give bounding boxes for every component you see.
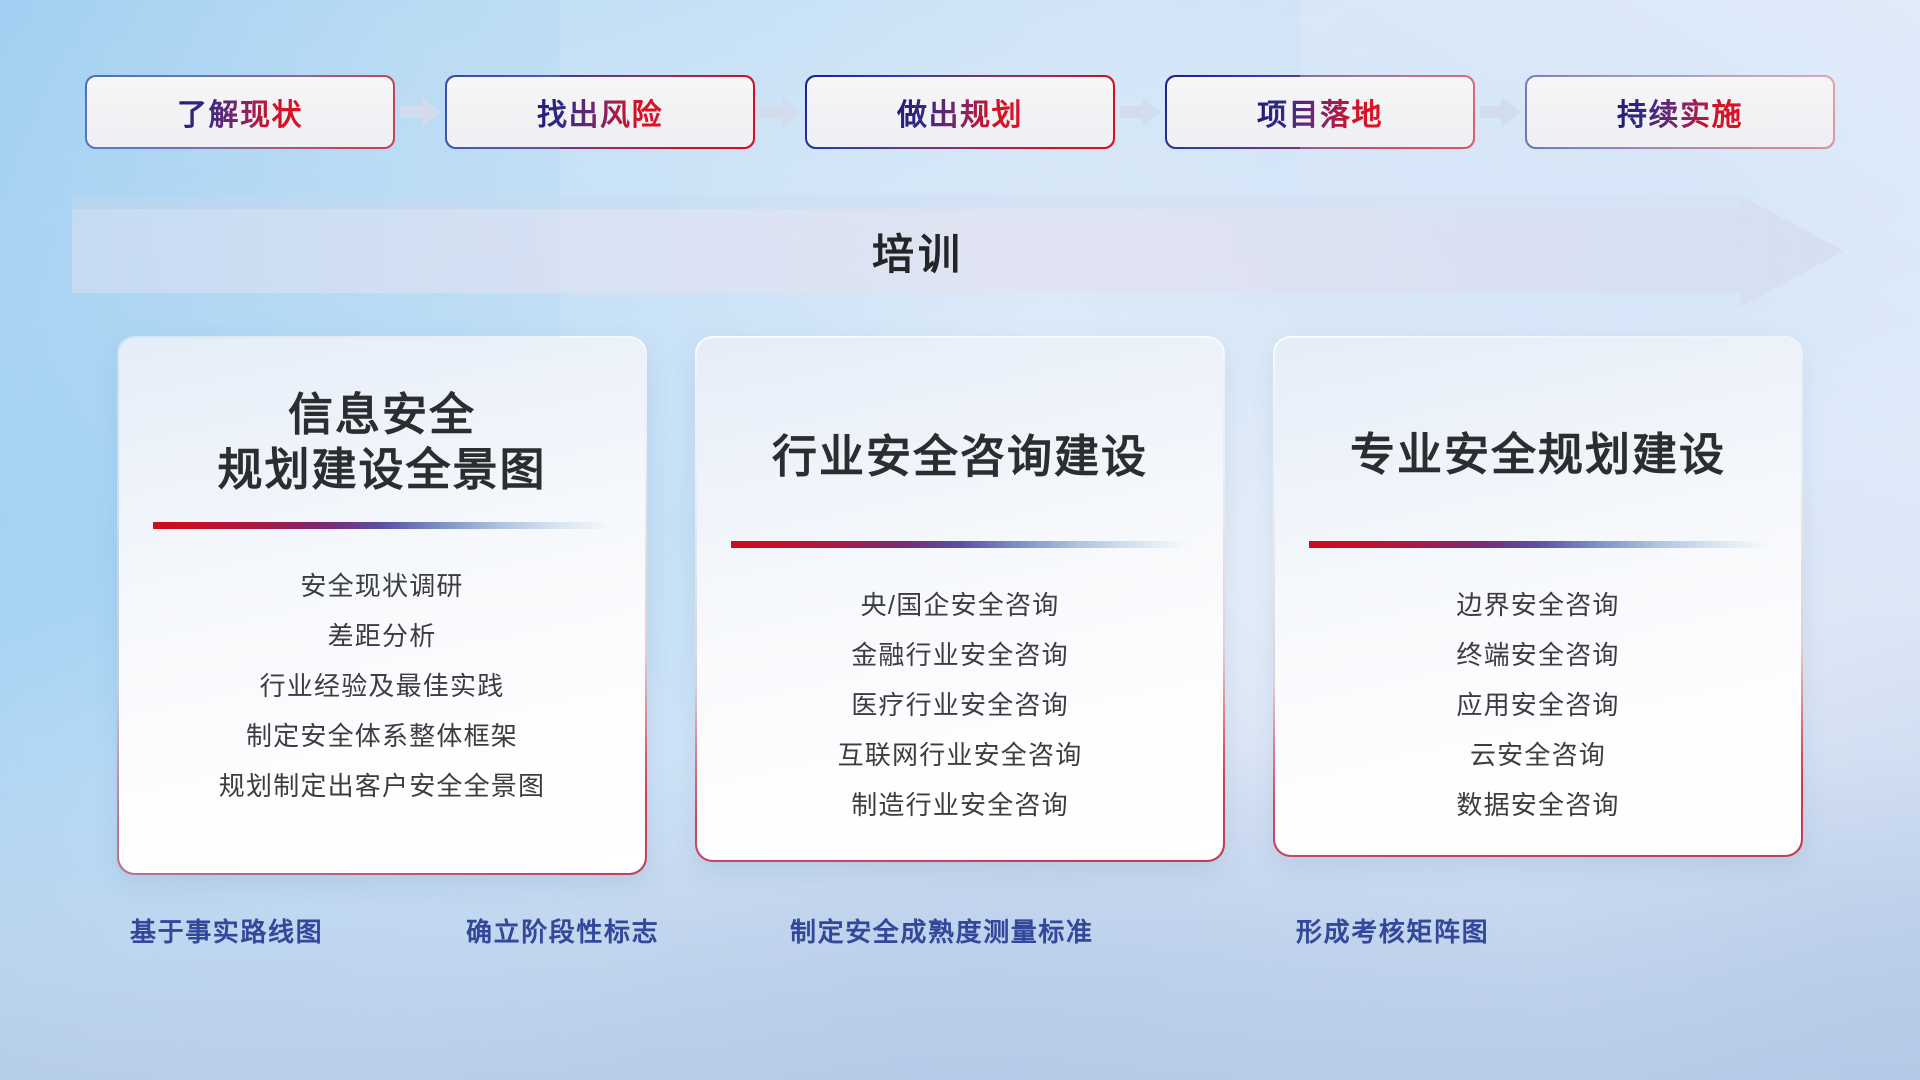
training-banner: 培训 xyxy=(72,195,1844,307)
step-label: 了解现状 xyxy=(177,90,303,134)
list-item: 制造行业安全咨询 xyxy=(851,780,1069,830)
list-item: 应用安全咨询 xyxy=(1456,680,1619,730)
gradient-divider-icon xyxy=(153,522,611,529)
step-label: 找出风险 xyxy=(537,90,663,134)
caption-milestones: 确立阶段性标志 xyxy=(466,912,659,949)
card-item-list: 边界安全咨询 终端安全咨询 应用安全咨询 云安全咨询 数据安全咨询 xyxy=(1305,580,1771,830)
step-chip-2[interactable]: 做出规划 xyxy=(807,77,1113,147)
card-title: 专业安全规划建设 xyxy=(1350,428,1726,483)
list-item: 安全现状调研 xyxy=(300,561,463,611)
arrow-right-icon xyxy=(1473,77,1527,147)
card-title: 行业安全咨询建设 xyxy=(772,430,1148,485)
list-item: 金融行业安全咨询 xyxy=(851,630,1069,680)
arrow-right-icon xyxy=(393,77,447,147)
gradient-divider-icon xyxy=(731,541,1189,548)
step-chip-3[interactable]: 项目落地 xyxy=(1167,77,1473,147)
card-professional-security-planning[interactable]: 专业安全规划建设 边界安全咨询 终端安全咨询 应用安全咨询 云安全咨询 数据安全… xyxy=(1275,338,1801,855)
caption-roadmap: 基于事实路线图 xyxy=(130,912,323,949)
caption-assessment-matrix: 形成考核矩阵图 xyxy=(1296,912,1489,949)
list-item: 医疗行业安全咨询 xyxy=(851,680,1069,730)
step-label: 项目落地 xyxy=(1257,90,1383,134)
capability-cards: 信息安全 规划建设全景图 安全现状调研 差距分析 行业经验及最佳实践 制定安全体… xyxy=(0,338,1920,873)
list-item: 行业经验及最佳实践 xyxy=(260,661,505,711)
card-item-list: 央/国企安全咨询 金融行业安全咨询 医疗行业安全咨询 互联网行业安全咨询 制造行… xyxy=(727,580,1193,830)
list-item: 数据安全咨询 xyxy=(1456,780,1619,830)
caption-maturity-standard: 制定安全成熟度测量标准 xyxy=(790,912,1094,949)
list-item: 云安全咨询 xyxy=(1470,730,1606,780)
process-steps-row: 了解现状 找出风险 做出规划 项目落地 持续实施 xyxy=(0,72,1920,152)
list-item: 差距分析 xyxy=(328,611,437,661)
step-label: 做出规划 xyxy=(897,90,1023,134)
outcome-captions: 基于事实路线图 确立阶段性标志 制定安全成熟度测量标准 形成考核矩阵图 xyxy=(0,912,1920,956)
list-item: 终端安全咨询 xyxy=(1456,630,1619,680)
card-title: 信息安全 规划建设全景图 xyxy=(217,388,546,498)
list-item: 央/国企安全咨询 xyxy=(861,580,1060,630)
step-chip-1[interactable]: 找出风险 xyxy=(447,77,753,147)
list-item: 规划制定出客户安全全景图 xyxy=(219,761,545,811)
card-item-list: 安全现状调研 差距分析 行业经验及最佳实践 制定安全体系整体框架 规划制定出客户… xyxy=(149,561,615,811)
list-item: 互联网行业安全咨询 xyxy=(838,730,1083,780)
step-chip-0[interactable]: 了解现状 xyxy=(87,77,393,147)
list-item: 边界安全咨询 xyxy=(1456,580,1619,630)
card-industry-security-consulting[interactable]: 行业安全咨询建设 央/国企安全咨询 金融行业安全咨询 医疗行业安全咨询 互联网行… xyxy=(697,338,1223,860)
card-information-security-blueprint[interactable]: 信息安全 规划建设全景图 安全现状调研 差距分析 行业经验及最佳实践 制定安全体… xyxy=(119,338,645,873)
arrow-right-icon xyxy=(1113,77,1167,147)
gradient-divider-icon xyxy=(1309,541,1767,548)
training-banner-label: 培训 xyxy=(72,195,1844,307)
list-item: 制定安全体系整体框架 xyxy=(246,711,518,761)
arrow-right-icon xyxy=(753,77,807,147)
step-label: 持续实施 xyxy=(1617,90,1743,134)
step-chip-4[interactable]: 持续实施 xyxy=(1527,77,1833,147)
